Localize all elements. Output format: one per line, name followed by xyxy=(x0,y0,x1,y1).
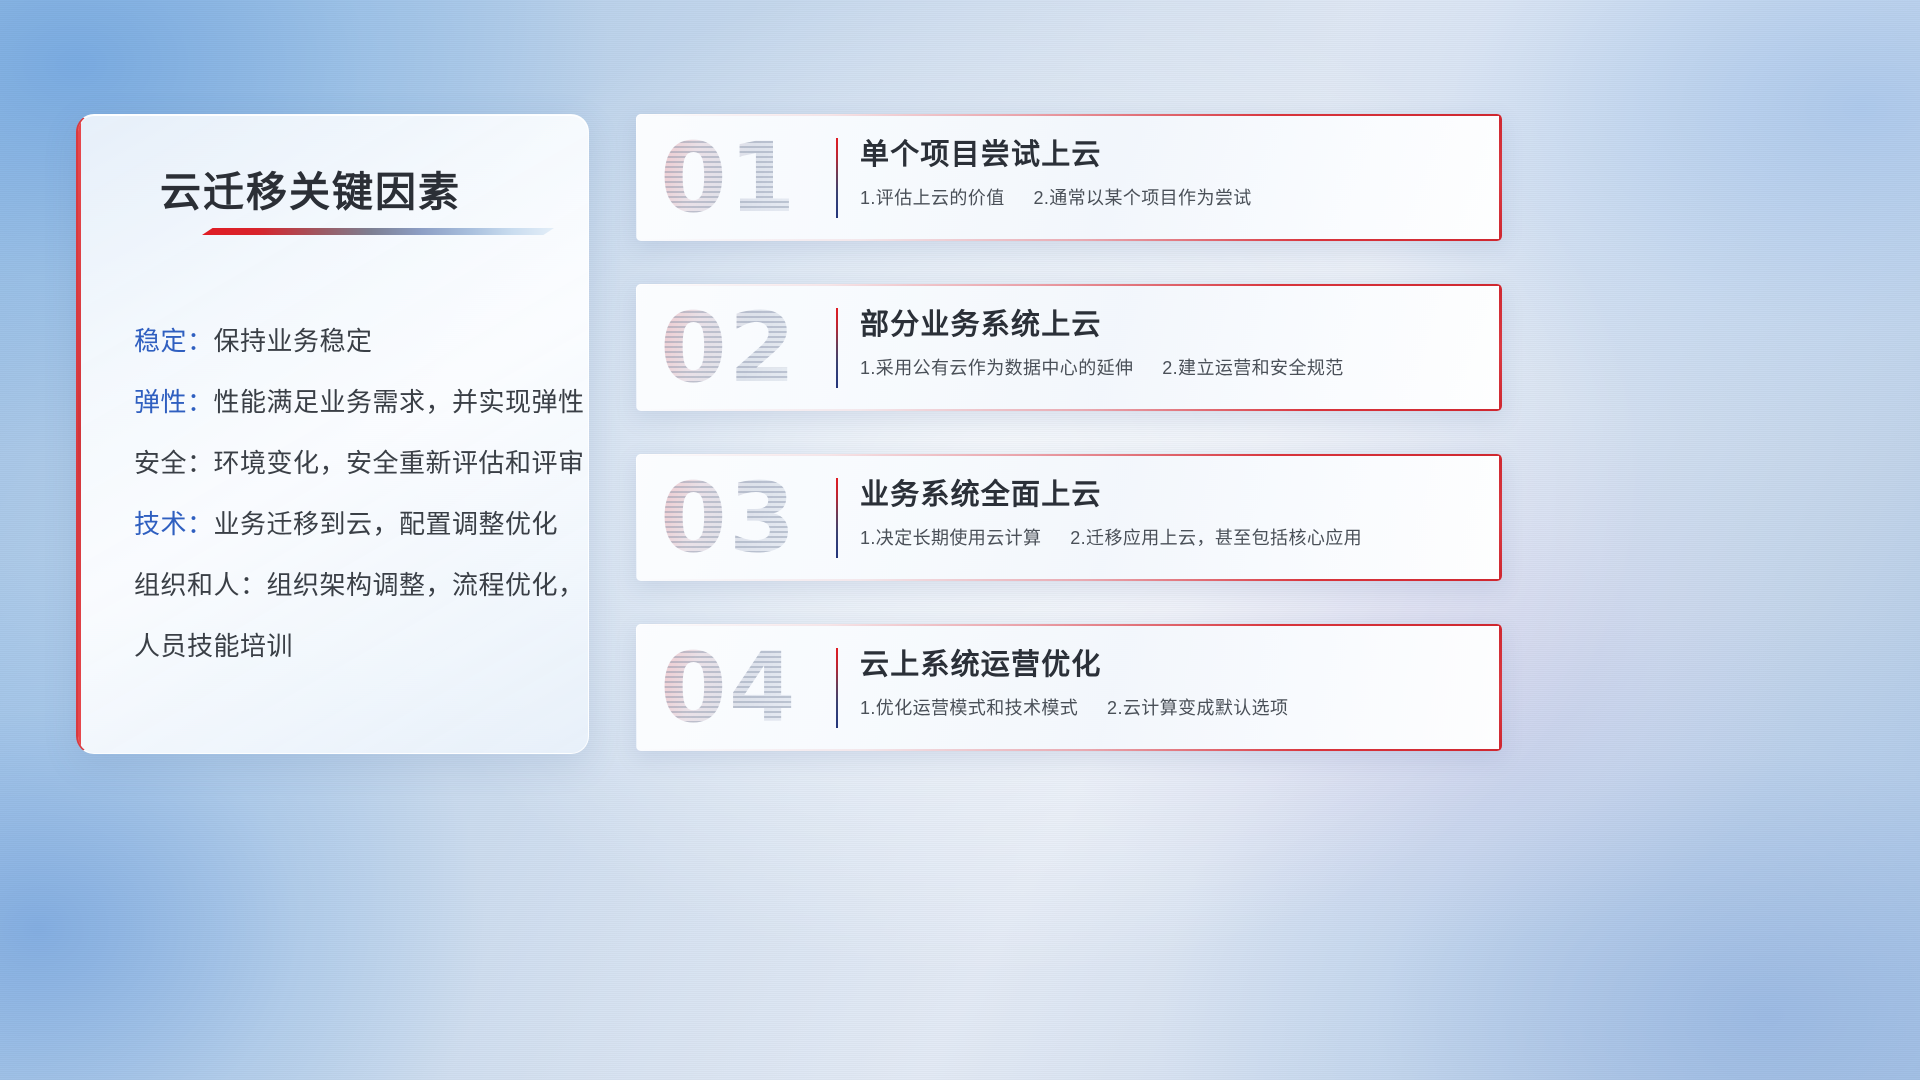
stage-card-04[interactable]: 04 云上系统运营优化 1.优化运营模式和技术模式 2.云计算变成默认选项 xyxy=(636,624,1502,751)
card-body: 部分业务系统上云 1.采用公有云作为数据中心的延伸 2.建立运营和安全规范 xyxy=(860,304,1480,381)
card-top-accent-border xyxy=(636,114,1502,116)
factor-text: 保持业务稳定 xyxy=(214,326,373,356)
card-point-2: 2.云计算变成默认选项 xyxy=(1107,698,1288,718)
card-point-1: 1.采用公有云作为数据中心的延伸 xyxy=(860,358,1133,378)
card-right-accent-border xyxy=(1499,114,1502,241)
card-title: 云上系统运营优化 xyxy=(860,644,1480,686)
factor-text: 组织架构调整，流程优化， xyxy=(267,570,585,600)
card-left-border xyxy=(636,114,637,241)
stage-card-01[interactable]: 01 单个项目尝试上云 1.评估上云的价值 2.通常以某个项目作为尝试 xyxy=(636,114,1502,241)
card-left-border xyxy=(636,284,637,411)
factor-label: 组织和人： xyxy=(134,570,267,600)
card-divider-accent xyxy=(836,138,838,218)
card-bottom-accent-border xyxy=(636,239,1502,241)
card-body: 业务系统全面上云 1.决定长期使用云计算 2.迁移应用上云，甚至包括核心应用 xyxy=(860,474,1480,551)
card-divider-accent xyxy=(836,308,838,388)
card-top-accent-border xyxy=(636,284,1502,286)
factor-label: 弹性： xyxy=(134,387,214,417)
stage-card-list: 01 单个项目尝试上云 1.评估上云的价值 2.通常以某个项目作为尝试 02 部… xyxy=(636,114,1502,794)
card-body: 云上系统运营优化 1.优化运营模式和技术模式 2.云计算变成默认选项 xyxy=(860,644,1480,721)
factor-label: 技术： xyxy=(134,509,214,539)
stage-card-02[interactable]: 02 部分业务系统上云 1.采用公有云作为数据中心的延伸 2.建立运营和安全规范 xyxy=(636,284,1502,411)
card-point-1: 1.优化运营模式和技术模式 xyxy=(860,698,1078,718)
card-point-2: 2.迁移应用上云，甚至包括核心应用 xyxy=(1070,528,1362,548)
stage-card-03[interactable]: 03 业务系统全面上云 1.决定长期使用云计算 2.迁移应用上云，甚至包括核心应… xyxy=(636,454,1502,581)
card-top-accent-border xyxy=(636,624,1502,626)
list-item-continuation: 人员技能培训 xyxy=(134,616,562,677)
card-left-border xyxy=(636,624,637,751)
factor-text: 业务迁移到云，配置调整优化 xyxy=(214,509,559,539)
stage-number-02: 02 xyxy=(660,296,840,400)
card-right-accent-border xyxy=(1499,454,1502,581)
key-factors-panel: 云迁移关键因素 稳定：保持业务稳定 弹性：性能满足业务需求，并实现弹性 安全：环… xyxy=(76,114,589,754)
card-top-accent-border xyxy=(636,454,1502,456)
factor-text: 性能满足业务需求，并实现弹性 xyxy=(214,387,585,417)
card-divider-accent xyxy=(836,648,838,728)
card-bottom-accent-border xyxy=(636,409,1502,411)
factor-list: 稳定：保持业务稳定 弹性：性能满足业务需求，并实现弹性 安全：环境变化，安全重新… xyxy=(134,311,562,677)
card-description: 1.决定长期使用云计算 2.迁移应用上云，甚至包括核心应用 xyxy=(860,525,1480,551)
factor-label: 安全： xyxy=(134,448,214,478)
card-point-1: 1.评估上云的价值 xyxy=(860,188,1005,208)
card-title: 业务系统全面上云 xyxy=(860,474,1480,516)
list-item: 安全：环境变化，安全重新评估和评审 xyxy=(134,433,562,494)
page-title: 云迁移关键因素 xyxy=(160,158,461,218)
card-right-accent-border xyxy=(1499,624,1502,751)
card-point-1: 1.决定长期使用云计算 xyxy=(860,528,1041,548)
stage-number-04: 04 xyxy=(660,636,840,740)
card-bottom-accent-border xyxy=(636,579,1502,581)
stage-number-03: 03 xyxy=(660,466,840,570)
stage-number-01: 01 xyxy=(660,126,840,230)
card-right-accent-border xyxy=(1499,284,1502,411)
title-underline-accent xyxy=(202,228,554,235)
card-point-2: 2.通常以某个项目作为尝试 xyxy=(1033,188,1251,208)
factor-text: 环境变化，安全重新评估和评审 xyxy=(214,448,585,478)
slide-stage: 云迁移关键因素 稳定：保持业务稳定 弹性：性能满足业务需求，并实现弹性 安全：环… xyxy=(0,0,1920,1080)
card-body: 单个项目尝试上云 1.评估上云的价值 2.通常以某个项目作为尝试 xyxy=(860,134,1480,211)
card-bottom-accent-border xyxy=(636,749,1502,751)
list-item: 弹性：性能满足业务需求，并实现弹性 xyxy=(134,372,562,433)
list-item: 组织和人：组织架构调整，流程优化， xyxy=(134,555,562,616)
list-item: 技术：业务迁移到云，配置调整优化 xyxy=(134,494,562,555)
factor-text: 人员技能培训 xyxy=(134,631,293,661)
list-item: 稳定：保持业务稳定 xyxy=(134,311,562,372)
card-title: 部分业务系统上云 xyxy=(860,304,1480,346)
card-description: 1.评估上云的价值 2.通常以某个项目作为尝试 xyxy=(860,185,1480,211)
card-description: 1.采用公有云作为数据中心的延伸 2.建立运营和安全规范 xyxy=(860,355,1480,381)
card-description: 1.优化运营模式和技术模式 2.云计算变成默认选项 xyxy=(860,695,1480,721)
factor-label: 稳定： xyxy=(134,326,214,356)
card-point-2: 2.建立运营和安全规范 xyxy=(1162,358,1343,378)
card-left-border xyxy=(636,454,637,581)
card-divider-accent xyxy=(836,478,838,558)
card-title: 单个项目尝试上云 xyxy=(860,134,1480,176)
